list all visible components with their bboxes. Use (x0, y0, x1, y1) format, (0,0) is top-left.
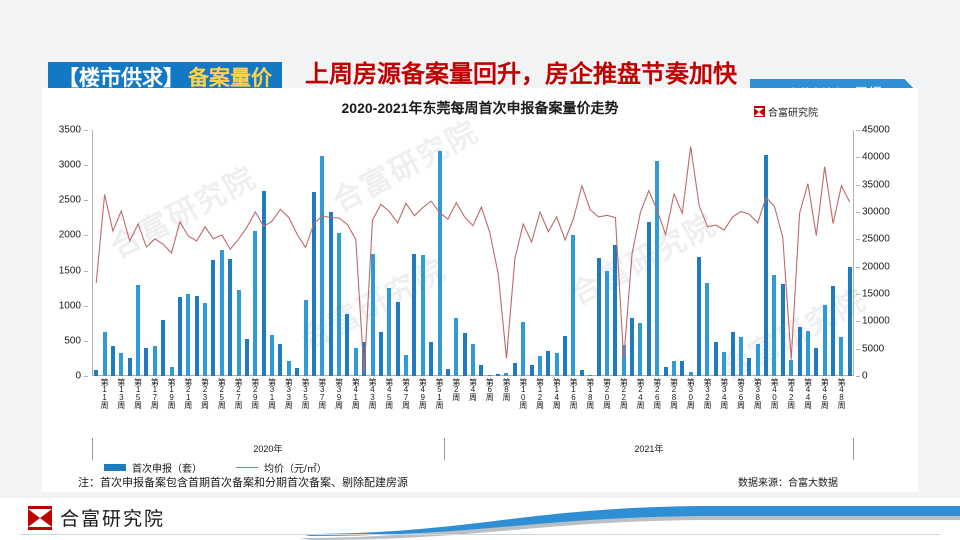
legend-item-line: 均价（元/㎡） (236, 460, 327, 475)
y-axis-left-tick: 2500 (59, 195, 81, 206)
x-axis-label: 第38周 (752, 378, 763, 408)
plot-area: 合富研究院 合富研究院 合富研究院 合富研究院 合富研究院 (92, 130, 854, 376)
x-axis-label: 第12周 (534, 378, 545, 408)
x-axis-label: 第18周 (585, 378, 596, 408)
y-axis-left-tickmark (84, 235, 88, 236)
y-axis-right-tick: 45000 (862, 125, 890, 136)
y-axis-right-tickmark (856, 376, 860, 377)
x-axis-label: 第31周 (267, 378, 278, 408)
footer-brand-logo: 合富研究院 (28, 504, 165, 531)
x-axis-label: 第25周 (216, 378, 227, 408)
x-axis-label: 第14周 (551, 378, 562, 408)
year-separator (853, 438, 854, 460)
x-axis-label: 第37周 (317, 378, 328, 408)
y-axis-left-tick: 1000 (59, 300, 81, 311)
y-axis-left-tickmark (84, 271, 88, 272)
legend-swatch-line (236, 467, 258, 468)
y-axis-right-tick: 5000 (862, 343, 884, 354)
x-axis-label: 第10周 (518, 378, 529, 408)
y-axis-right-tickmark (856, 267, 860, 268)
x-axis-label: 第49周 (417, 378, 428, 408)
year-separator (92, 438, 93, 460)
y-axis-right-tick: 30000 (862, 207, 890, 218)
footer-divider (20, 534, 940, 535)
x-axis-label: 第33周 (283, 378, 294, 408)
y-axis-left-tickmark (84, 376, 88, 377)
x-axis-label: 第42周 (786, 378, 797, 408)
headline-text: 上周房源备案量回升，房企推盘节奏加快 (305, 59, 737, 90)
x-axis-label: 第26周 (652, 378, 663, 408)
x-axis-label: 第35周 (300, 378, 311, 408)
y-axis-left: 0500100015002000250030003500 (42, 130, 88, 376)
x-axis-label: 第4周 (468, 378, 479, 400)
y-axis-left-tick: 1500 (59, 265, 81, 276)
y-axis-right-tickmark (856, 185, 860, 186)
price-line (96, 146, 850, 374)
x-axis-label: 第17周 (149, 378, 160, 408)
x-axis-label: 第28周 (668, 378, 679, 408)
y-axis-right-tick: 40000 (862, 152, 890, 163)
x-axis-label: 第43周 (367, 378, 378, 408)
year-label: 2020年 (253, 442, 282, 455)
x-axis-label: 第24周 (635, 378, 646, 408)
x-axis-label: 第8周 (501, 378, 512, 400)
x-axis-label: 第22周 (618, 378, 629, 408)
badge-primary-label: 【楼市供求】 (58, 68, 184, 89)
y-axis-right-tickmark (856, 294, 860, 295)
x-axis-label: 第36周 (735, 378, 746, 408)
y-axis-left-tickmark (84, 341, 88, 342)
x-axis-label: 第23周 (200, 378, 211, 408)
x-axis-label: 第34周 (719, 378, 730, 408)
x-axis-label: 第13周 (116, 378, 127, 408)
year-label: 2021年 (634, 442, 663, 455)
x-axis-label: 第11周 (99, 378, 110, 408)
x-axis-label: 第47周 (401, 378, 412, 408)
x-axis-label: 第21周 (183, 378, 194, 408)
y-axis-left-tickmark (84, 130, 88, 131)
legend-item-bar: 首次申报（套） (104, 460, 202, 475)
chart-brand-label: 合富研究院 (768, 104, 818, 119)
chart-legend: 首次申报（套） 均价（元/㎡） (104, 460, 327, 475)
x-axis-label: 第44周 (802, 378, 813, 408)
y-axis-right-tickmark (856, 349, 860, 350)
legend-swatch-bar (104, 464, 126, 471)
y-axis-left-tick: 3500 (59, 125, 81, 136)
y-axis-right-tickmark (856, 321, 860, 322)
x-axis-labels: 第11周第13周第15周第17周第19周第21周第23周第25周第27周第29周… (92, 378, 854, 438)
y-axis-right-tick: 35000 (862, 179, 890, 190)
y-axis-right: 0500010000150002000025000300003500040000… (856, 130, 912, 376)
year-separator (444, 438, 445, 460)
year-band: 2020年2021年 (92, 440, 854, 460)
x-axis-label: 第40周 (769, 378, 780, 408)
y-axis-right-tickmark (856, 130, 860, 131)
x-axis-label: 第48周 (836, 378, 847, 408)
x-axis-label: 第16周 (568, 378, 579, 408)
y-axis-left-tickmark (84, 200, 88, 201)
y-axis-right-tickmark (856, 239, 860, 240)
x-axis-label: 第41周 (350, 378, 361, 408)
x-axis-label: 第30周 (685, 378, 696, 408)
y-axis-right-tick: 0 (862, 371, 868, 382)
page-header: 【楼市供求】 备案量价 上周房源备案量回升，房企推盘节奏加快 东莞房地产 周报 (0, 26, 960, 82)
y-axis-left-tickmark (84, 165, 88, 166)
y-axis-left-tick: 0 (75, 371, 81, 382)
page-footer: 合富研究院 (0, 498, 960, 540)
y-axis-left-tick: 3000 (59, 160, 81, 171)
y-axis-left-tick: 2000 (59, 230, 81, 241)
x-axis-label: 第46周 (819, 378, 830, 408)
x-axis-label: 第27周 (233, 378, 244, 408)
chart-source: 数据来源：合富大数据 (738, 474, 838, 489)
x-axis-label: 第32周 (702, 378, 713, 408)
y-axis-right-tick: 15000 (862, 289, 890, 300)
x-axis-label: 第45周 (384, 378, 395, 408)
y-axis-left-tick: 500 (64, 335, 81, 346)
x-axis-label: 第2周 (451, 378, 462, 400)
y-axis-right-tickmark (856, 212, 860, 213)
line-series (92, 130, 854, 376)
legend-label-bar: 首次申报（套） (132, 460, 202, 475)
chart-note: 注：首次申报备案包含首期首次备案和分期首次备案、剔除配建房源 (78, 474, 408, 490)
x-axis-label: 第29周 (250, 378, 261, 408)
x-axis-label: 第39周 (334, 378, 345, 408)
hopefluent-logo-icon (28, 506, 52, 530)
y-axis-right-tickmark (856, 157, 860, 158)
x-axis-label: 第15周 (133, 378, 144, 408)
y-axis-right-tick: 10000 (862, 316, 890, 327)
badge-secondary-label: 备案量价 (188, 68, 272, 89)
x-axis-label: 第20周 (601, 378, 612, 408)
footer-brand-label: 合富研究院 (60, 504, 165, 531)
chart-card: 2020-2021年东莞每周首次申报备案量价走势 合富研究院 050010001… (42, 88, 918, 492)
y-axis-right-tick: 25000 (862, 234, 890, 245)
hopefluent-logo-icon (754, 106, 765, 117)
x-axis-label: 第6周 (484, 378, 495, 400)
y-axis-right-tick: 20000 (862, 261, 890, 272)
chart-brand-logo: 合富研究院 (754, 104, 818, 119)
y-axis-left-tickmark (84, 306, 88, 307)
x-axis-label: 第19周 (166, 378, 177, 408)
legend-label-line: 均价（元/㎡） (264, 460, 327, 475)
x-axis-label: 第51周 (434, 378, 445, 408)
